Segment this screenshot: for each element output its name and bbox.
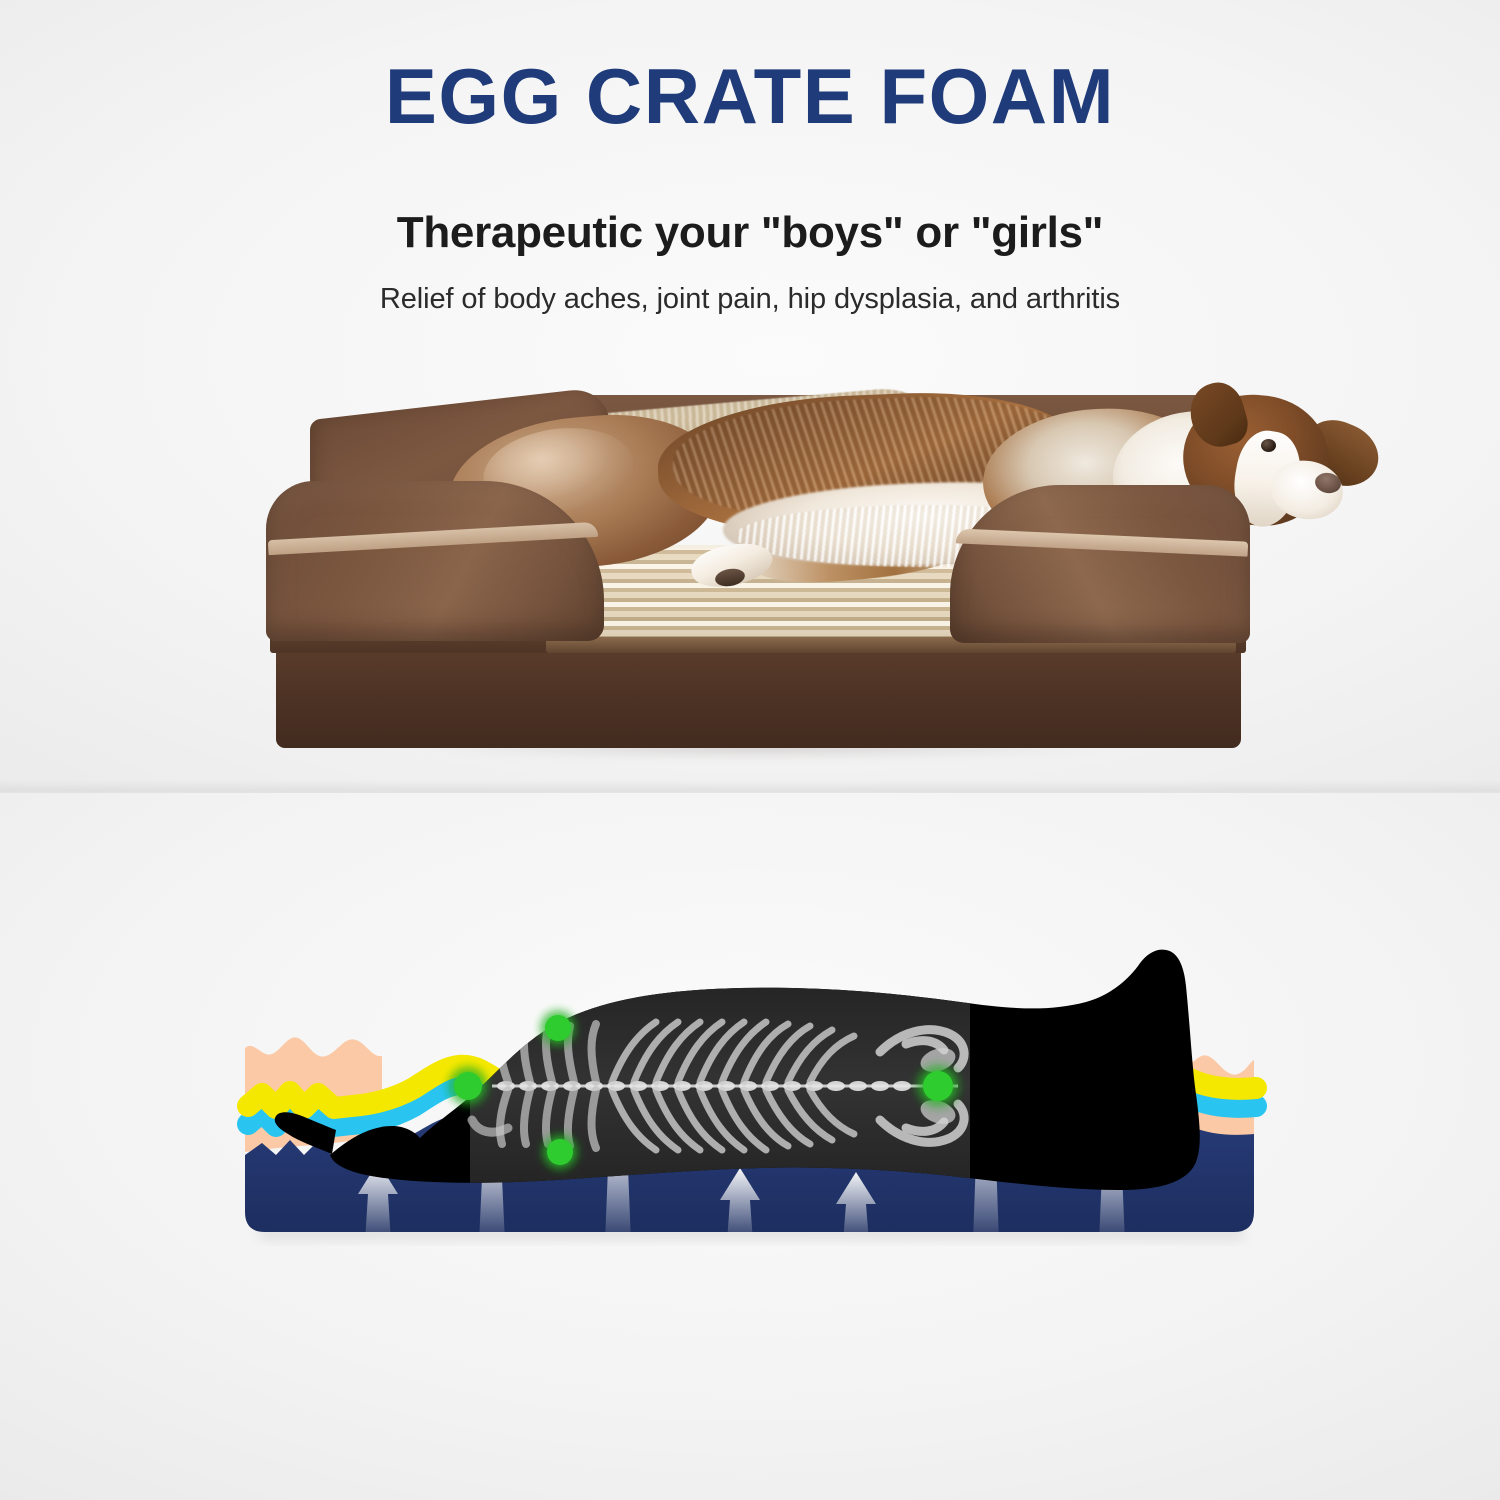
bed-base-slab <box>276 643 1241 748</box>
bed-bolster-left <box>266 481 604 641</box>
dog-eye <box>1261 439 1276 452</box>
pressure-point-core <box>454 1072 482 1100</box>
airflow-cross-section-diagram <box>0 940 1500 1320</box>
pressure-point-core <box>923 1071 953 1101</box>
subtitle: Therapeutic your "boys" or "girls" <box>0 208 1500 258</box>
page-title: EGG CRATE FOAM <box>0 56 1500 138</box>
product-photo-dog-bed <box>258 385 1258 765</box>
panel-egg-crate-foam: EGG CRATE FOAM Therapeutic your "boys" o… <box>0 0 1500 793</box>
subtext-benefits: Relief of body aches, joint pain, hip dy… <box>0 283 1500 316</box>
bed-bolster-right <box>950 485 1250 643</box>
pressure-point-core <box>547 1139 573 1165</box>
product-infographic-page: EGG CRATE FOAM Therapeutic your "boys" o… <box>0 0 1500 1500</box>
pressure-point-core <box>545 1015 571 1041</box>
